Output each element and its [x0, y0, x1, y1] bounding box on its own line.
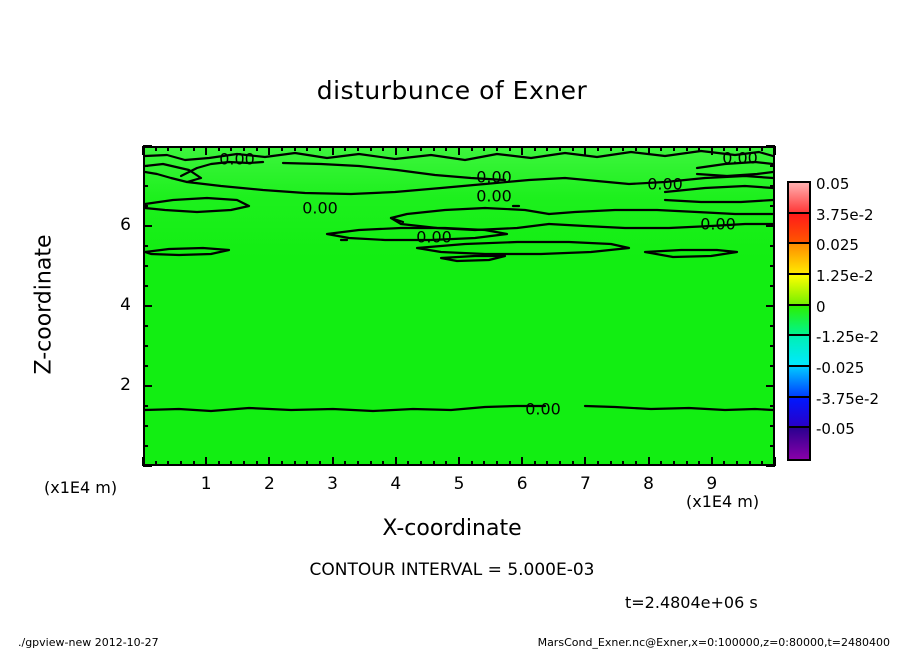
- x-tick: [736, 461, 738, 466]
- x-tick: [471, 146, 473, 151]
- x-tick: [193, 146, 195, 151]
- x-tick: [648, 457, 650, 466]
- y-tick: [766, 225, 775, 227]
- x-tick: [509, 461, 511, 466]
- x-tick-label: 5: [439, 474, 479, 494]
- x-tick: [445, 146, 447, 151]
- y-tick: [143, 345, 148, 347]
- contour-interval-note: CONTOUR INTERVAL = 5.000E-03: [0, 560, 904, 580]
- x-tick: [635, 146, 637, 151]
- x-tick: [584, 457, 586, 466]
- x-tick: [357, 461, 359, 466]
- y-tick-label: 4: [97, 295, 131, 315]
- x-tick: [723, 461, 725, 466]
- colorbar-tick-label: 3.75e-2: [816, 206, 874, 224]
- x-tick: [319, 461, 321, 466]
- x-tick: [180, 461, 182, 466]
- x-tick: [610, 461, 612, 466]
- y-tick: [143, 385, 152, 387]
- y-tick: [143, 445, 148, 447]
- contour-label: 0.00: [525, 400, 561, 419]
- colorbar-tick-label: 0: [816, 298, 826, 316]
- x-tick: [155, 146, 157, 151]
- x-axis-title: X-coordinate: [0, 516, 904, 541]
- colorbar-band: [789, 306, 809, 337]
- x-tick: [749, 461, 751, 466]
- x-tick: [761, 461, 763, 466]
- y-tick: [766, 305, 775, 307]
- y-tick: [143, 185, 148, 187]
- x-tick: [673, 146, 675, 151]
- x-tick: [749, 146, 751, 151]
- x-tick: [572, 461, 574, 466]
- x-tick: [420, 461, 422, 466]
- contour-label: 0.00: [700, 215, 736, 234]
- x-tick: [673, 461, 675, 466]
- x-tick-label: 2: [249, 474, 289, 494]
- x-tick-label: 7: [565, 474, 605, 494]
- y-tick: [770, 205, 775, 207]
- contour-label: 0.00: [476, 168, 512, 187]
- footer-source: MarsCond_Exner.nc@Exner,x=0:100000,z=0:8…: [538, 636, 890, 649]
- x-tick: [155, 461, 157, 466]
- colorbar-band: [789, 183, 809, 214]
- x-tick: [230, 461, 232, 466]
- y-tick: [766, 465, 775, 467]
- colorbar-band: [789, 244, 809, 275]
- x-tick: [294, 461, 296, 466]
- y-tick: [770, 365, 775, 367]
- contour-label: 0.00: [722, 149, 758, 168]
- x-tick: [686, 461, 688, 466]
- timestamp-note: t=2.4804e+06 s: [625, 593, 758, 612]
- contour-lines: [145, 148, 773, 464]
- colorbar-band: [789, 428, 809, 459]
- x-tick: [306, 461, 308, 466]
- x-tick: [711, 457, 713, 466]
- x-tick-label: 9: [692, 474, 732, 494]
- y-tick: [143, 425, 148, 427]
- y-tick: [770, 425, 775, 427]
- y-tick: [143, 225, 152, 227]
- y-tick: [143, 265, 148, 267]
- x-tick: [382, 461, 384, 466]
- x-tick: [597, 461, 599, 466]
- colorbar-tick-label: 1.25e-2: [816, 267, 874, 285]
- x-tick: [268, 146, 270, 155]
- x-tick: [370, 146, 372, 151]
- x-tick: [344, 146, 346, 151]
- x-tick: [344, 461, 346, 466]
- x-tick: [332, 146, 334, 155]
- x-tick: [610, 146, 612, 151]
- x-tick: [471, 461, 473, 466]
- x-tick-label: 3: [313, 474, 353, 494]
- x-tick: [420, 146, 422, 151]
- x-tick: [648, 146, 650, 155]
- y-tick: [770, 445, 775, 447]
- contour-label: 0.00: [219, 150, 255, 169]
- y-tick: [770, 325, 775, 327]
- y-tick: [770, 405, 775, 407]
- x-tick-label: 4: [376, 474, 416, 494]
- x-tick: [635, 461, 637, 466]
- x-tick: [395, 457, 397, 466]
- x-tick: [445, 461, 447, 466]
- x-tick: [660, 146, 662, 151]
- x-tick: [774, 146, 776, 155]
- y-tick: [143, 365, 148, 367]
- colorbar-band: [789, 214, 809, 245]
- contour-label: 0.00: [302, 199, 338, 218]
- y-tick: [143, 165, 148, 167]
- x-tick: [534, 146, 536, 151]
- colorbar-tick-label: -3.75e-2: [816, 390, 879, 408]
- x-axis-unit-label: (x1E4 m): [686, 492, 759, 511]
- x-tick: [711, 146, 713, 155]
- colorbar-tick-label: -0.05: [816, 420, 855, 438]
- contour-label: 0.00: [416, 228, 452, 247]
- y-tick: [143, 405, 148, 407]
- x-tick: [281, 461, 283, 466]
- x-tick: [167, 146, 169, 151]
- x-tick: [180, 146, 182, 151]
- x-tick: [407, 461, 409, 466]
- y-tick-label: 2: [97, 375, 131, 395]
- x-tick: [268, 457, 270, 466]
- x-tick: [698, 146, 700, 151]
- y-tick: [143, 325, 148, 327]
- x-tick-label: 1: [186, 474, 226, 494]
- colorbar-tick-label: -1.25e-2: [816, 328, 879, 346]
- x-tick: [559, 146, 561, 151]
- y-tick: [143, 305, 152, 307]
- x-tick: [243, 461, 245, 466]
- x-tick: [433, 146, 435, 151]
- x-tick: [559, 461, 561, 466]
- x-tick: [698, 461, 700, 466]
- y-tick: [143, 205, 148, 207]
- x-tick: [230, 146, 232, 151]
- x-tick: [736, 146, 738, 151]
- y-tick-label: 6: [97, 215, 131, 235]
- x-tick: [534, 461, 536, 466]
- x-tick: [370, 461, 372, 466]
- x-tick: [458, 146, 460, 155]
- x-tick: [167, 461, 169, 466]
- x-tick: [622, 146, 624, 151]
- x-tick: [306, 146, 308, 151]
- x-tick: [407, 146, 409, 151]
- y-tick: [766, 385, 775, 387]
- y-tick: [143, 465, 152, 467]
- colorbar: [787, 181, 811, 461]
- footer-command: ./gpview-new 2012-10-27: [18, 636, 159, 649]
- y-axis-unit-label: (x1E4 m): [44, 478, 117, 497]
- x-tick: [546, 146, 548, 151]
- x-tick: [256, 146, 258, 151]
- x-tick: [294, 146, 296, 151]
- y-tick: [770, 185, 775, 187]
- x-tick: [521, 457, 523, 466]
- colorbar-band: [789, 336, 809, 367]
- x-tick: [357, 146, 359, 151]
- y-tick: [770, 285, 775, 287]
- x-tick: [622, 461, 624, 466]
- x-tick: [761, 146, 763, 151]
- x-tick: [382, 146, 384, 151]
- x-tick: [256, 461, 258, 466]
- x-tick: [218, 146, 220, 151]
- colorbar-band: [789, 275, 809, 306]
- x-tick: [193, 461, 195, 466]
- y-tick: [770, 165, 775, 167]
- x-tick: [332, 457, 334, 466]
- x-tick: [281, 146, 283, 151]
- x-tick: [243, 146, 245, 151]
- x-tick: [205, 457, 207, 466]
- colorbar-band: [789, 367, 809, 398]
- page-title: disturbunce of Exner: [0, 76, 904, 105]
- x-tick: [521, 146, 523, 155]
- x-tick: [686, 146, 688, 151]
- y-tick: [143, 145, 152, 147]
- x-tick-label: 8: [629, 474, 669, 494]
- x-tick: [597, 146, 599, 151]
- colorbar-tick-label: 0.025: [816, 236, 859, 254]
- x-tick: [572, 146, 574, 151]
- x-tick: [496, 461, 498, 466]
- contour-plot-area: [143, 146, 775, 466]
- x-tick: [433, 461, 435, 466]
- x-tick: [483, 146, 485, 151]
- y-tick: [770, 345, 775, 347]
- y-tick: [143, 285, 148, 287]
- contour-label: 0.00: [476, 187, 512, 206]
- x-tick: [660, 461, 662, 466]
- y-tick: [766, 145, 775, 147]
- colorbar-tick-label: 0.05: [816, 175, 849, 193]
- x-tick: [509, 146, 511, 151]
- x-tick: [584, 146, 586, 155]
- y-tick: [770, 265, 775, 267]
- x-tick: [496, 146, 498, 151]
- y-axis-title: Z-coordinate: [32, 225, 57, 385]
- x-tick: [218, 461, 220, 466]
- x-tick: [205, 146, 207, 155]
- x-tick: [483, 461, 485, 466]
- contour-label: 0.00: [647, 175, 683, 194]
- x-tick: [395, 146, 397, 155]
- x-tick: [546, 461, 548, 466]
- y-tick: [143, 245, 148, 247]
- x-tick: [142, 146, 144, 155]
- x-tick: [458, 457, 460, 466]
- x-tick: [319, 146, 321, 151]
- colorbar-tick-label: -0.025: [816, 359, 864, 377]
- y-tick: [770, 245, 775, 247]
- x-tick: [723, 146, 725, 151]
- colorbar-band: [789, 398, 809, 429]
- x-tick-label: 6: [502, 474, 542, 494]
